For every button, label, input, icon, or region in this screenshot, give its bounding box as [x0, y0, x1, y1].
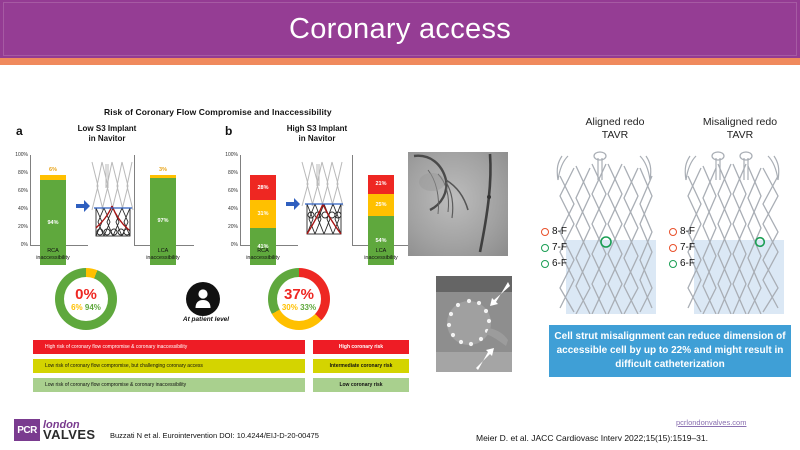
- bar-segment-label: 94%: [47, 220, 58, 226]
- bar-category-label: RCAinaccessibility: [236, 248, 290, 262]
- y-axis-line-b: [240, 155, 241, 245]
- y-axis-tick: 40%: [228, 206, 238, 212]
- french-size-label-8f-aligned: 8-F: [552, 226, 567, 237]
- panel-b-heading-line2: in Navitor: [262, 134, 372, 144]
- legend-row-intermediate-long: Low risk of coronary flow compromise, bu…: [33, 359, 305, 373]
- french-size-item-8f-aligned: 8-F: [541, 226, 567, 237]
- french-size-label-6f-misaligned: 6-F: [680, 258, 695, 269]
- circle-ok-icon-7f-aligned: [541, 244, 549, 252]
- legend-row-intermediate-short: Intermediate coronary risk: [313, 359, 409, 373]
- ct-cross-section-image: [436, 276, 512, 372]
- bar-segment-label: 25%: [375, 202, 386, 208]
- bar-category-label: LCAinaccessibility: [354, 248, 408, 262]
- donut-low-red-value: 0%: [75, 287, 97, 302]
- donut-low-sub-values: 6% 94%: [71, 304, 101, 312]
- french-size-list-misaligned: 8-F 7-F 6-F: [669, 226, 695, 274]
- circle-ok-icon-6f-aligned: [541, 260, 549, 268]
- citation-right: Meier D. et al. JACC Cardiovasc Interv 2…: [476, 433, 708, 443]
- bar-segment: 21%: [368, 175, 394, 194]
- callout-box: Cell strut misalignment can reduce dimen…: [549, 325, 791, 377]
- panel-a-heading-line2: in Navitor: [52, 134, 162, 144]
- chart-panel-b-rca: 100%80%60%40%20%0% 28%31%41%RCAinaccessi…: [218, 155, 298, 265]
- header-accent-rule: [0, 58, 800, 65]
- bar-segment-label: 6%: [40, 167, 66, 173]
- circle-fail-icon-8f-misaligned: [669, 228, 677, 236]
- donut-high-red-value: 37%: [284, 287, 314, 302]
- french-size-list-aligned: 8-F 7-F 6-F: [541, 226, 567, 274]
- pcr-london-valves-logo: PCR london VALVES: [14, 419, 95, 441]
- misaligned-redo-heading-line2: TAVR: [680, 129, 800, 142]
- aligned-redo-heading: Aligned redo TAVR: [555, 116, 675, 142]
- donut-low-center: 0% 6% 94%: [55, 268, 117, 330]
- panel-b-heading: High S3 Implant in Navitor: [262, 124, 372, 144]
- y-axis-line-b2: [352, 155, 353, 245]
- citation-left: Buzzati N et al. Eurointervention DOI: 1…: [110, 431, 319, 440]
- y-axis-line-a: [30, 155, 31, 245]
- bar-segment-label: 3%: [150, 167, 176, 173]
- bar-category-label: RCAinaccessibility: [26, 248, 80, 262]
- panel-b-heading-line1: High S3 Implant: [262, 124, 372, 134]
- y-axis-tick: 80%: [228, 170, 238, 176]
- donut-high-sub-values: 30% 33%: [282, 304, 316, 312]
- legend-row-low-short: Low coronary risk: [313, 378, 409, 392]
- angiogram-image: [408, 152, 508, 256]
- french-size-label-7f-misaligned: 7-F: [680, 242, 695, 253]
- french-size-item-7f-misaligned: 7-F: [669, 242, 695, 253]
- figure-title: Risk of Coronary Flow Compromise and Ina…: [104, 107, 332, 117]
- donut-low-green-value: 94%: [85, 303, 101, 312]
- y-axis-tick: 80%: [18, 170, 28, 176]
- panel-a-heading: Low S3 Implant in Navitor: [52, 124, 162, 144]
- y-axis-tick: 60%: [228, 188, 238, 194]
- bar-segment-label: 97%: [157, 218, 168, 224]
- ct-cross-section-graphic: [436, 276, 512, 372]
- aligned-redo-heading-line2: TAVR: [555, 129, 675, 142]
- donut-chart-low-implant: 0% 6% 94%: [55, 268, 117, 330]
- panel-a-letter: a: [16, 124, 23, 138]
- french-size-label-7f-aligned: 7-F: [552, 242, 567, 253]
- title-band: Coronary access: [0, 0, 800, 58]
- bar-segment-label: 28%: [257, 185, 268, 191]
- y-axis-tick: 60%: [18, 188, 28, 194]
- bar-segment-label: 54%: [375, 238, 386, 244]
- bar-segment: 25%: [368, 194, 394, 217]
- french-size-item-6f-aligned: 6-F: [541, 258, 567, 269]
- y-axis-tick: 100%: [225, 152, 238, 158]
- donut-chart-high-implant: 37% 30% 33%: [268, 268, 330, 330]
- donut-high-center: 37% 30% 33%: [268, 268, 330, 330]
- donut-high-green-value: 33%: [300, 303, 316, 312]
- stent-sketch-low-implant: [88, 160, 136, 250]
- misaligned-redo-heading: Misaligned redo TAVR: [680, 116, 800, 142]
- chart-panel-a-lca: 3%97%LCAinaccessibility: [134, 155, 214, 265]
- arrow-right-icon-a: [76, 200, 90, 212]
- misaligned-redo-heading-line1: Misaligned redo: [680, 116, 800, 129]
- legend-row-high-short: High coronary risk: [313, 340, 409, 354]
- title-band-inner: Coronary access: [3, 2, 797, 56]
- logo-wordmark: london VALVES: [43, 420, 95, 440]
- y-axis-tick: 20%: [18, 224, 28, 230]
- donut-high-yellow-value: 30%: [282, 303, 298, 312]
- page-title: Coronary access: [289, 13, 511, 46]
- stent-sketch-high-implant: [298, 160, 348, 250]
- bar-segment-label: 21%: [375, 181, 386, 187]
- french-size-label-6f-aligned: 6-F: [552, 258, 567, 269]
- aligned-redo-heading-line1: Aligned redo: [555, 116, 675, 129]
- logo-valves-text: VALVES: [43, 430, 95, 440]
- person-icon: [186, 282, 220, 316]
- y-axis-tick: 40%: [18, 206, 28, 212]
- bar-category-label: LCAinaccessibility: [136, 248, 190, 262]
- french-size-item-8f-misaligned: 8-F: [669, 226, 695, 237]
- callout-text: Cell strut misalignment can reduce dimen…: [549, 330, 791, 372]
- y-axis-b: 100%80%60%40%20%0%: [218, 155, 240, 245]
- french-size-item-7f-aligned: 7-F: [541, 242, 567, 253]
- y-axis-tick: 20%: [228, 224, 238, 230]
- french-size-label-8f-misaligned: 8-F: [680, 226, 695, 237]
- y-axis-tick: 100%: [15, 152, 28, 158]
- panel-a-heading-line1: Low S3 Implant: [52, 124, 162, 134]
- arrow-right-icon-b: [286, 198, 300, 210]
- angiogram-graphic: [408, 152, 508, 256]
- patient-level-caption: At patient level: [158, 316, 254, 323]
- circle-fail-icon-7f-misaligned: [669, 244, 677, 252]
- bar-segment-label: 31%: [257, 211, 268, 217]
- donut-low-yellow-value: 6%: [71, 303, 83, 312]
- legend-row-low-long: Low risk of coronary flow compromise & c…: [33, 378, 305, 392]
- circle-ok-icon-6f-misaligned: [669, 260, 677, 268]
- y-axis-a: 100%80%60%40%20%0%: [8, 155, 30, 245]
- french-size-item-6f-misaligned: 6-F: [669, 258, 695, 269]
- bar-segment: 28%: [250, 175, 276, 200]
- bar-segment: 31%: [250, 200, 276, 228]
- website-link[interactable]: pcrlondonvalves.com: [676, 418, 746, 427]
- legend-row-high-long: High risk of coronary flow compromise & …: [33, 340, 305, 354]
- pcr-badge: PCR: [14, 419, 40, 441]
- circle-fail-icon-8f-aligned: [541, 228, 549, 236]
- panel-b-letter: b: [225, 124, 232, 138]
